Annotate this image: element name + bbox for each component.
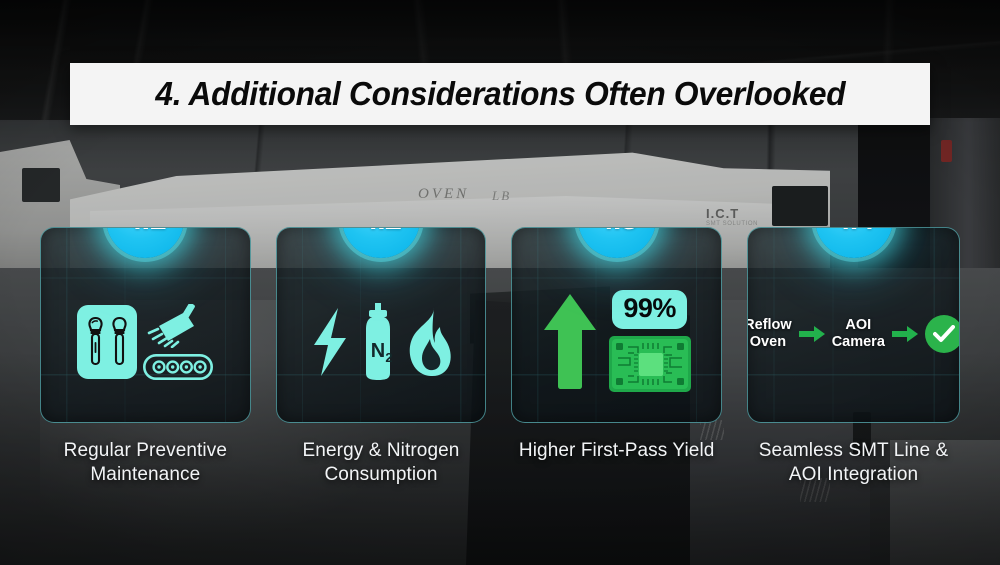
slide-root: OVEN LB I.C.T SMT SOLUTION 4. Additional… — [0, 0, 1000, 565]
cylinder-label: N — [371, 340, 385, 362]
cards-row: 4.1 Regular Preventive Maintenance — [40, 227, 960, 527]
page-title: 4. Additional Considerations Often Overl… — [155, 75, 845, 113]
icon-group-yield: 99% — [542, 290, 692, 393]
cylinder-sublabel: 2 — [385, 350, 392, 365]
card-column-3: 99% — [511, 227, 722, 527]
flame-icon — [404, 305, 454, 379]
card-caption-2: Energy & Nitrogen Consumption — [276, 439, 487, 488]
yield-stats: 99% — [608, 290, 692, 393]
nitrogen-cylinder-icon: N 2 — [356, 301, 400, 383]
card-column-4: Reflow Oven AOI Camera — [747, 227, 960, 527]
arrow-right-icon — [799, 325, 825, 343]
flow-step-aoi-camera: AOI Camera — [832, 317, 885, 350]
flow-label-line1: Reflow — [747, 317, 792, 334]
badge-number: 4.4 — [833, 227, 873, 237]
checkmark-icon — [933, 325, 955, 343]
card-column-2: N 2 4.2 Energy & Nitrogen Consumption — [276, 227, 487, 527]
card-caption-4: Seamless SMT Line & AOI Integration — [747, 439, 960, 488]
flow-label-line2: Oven — [747, 334, 792, 351]
card-4-4[interactable]: Reflow Oven AOI Camera — [747, 227, 960, 423]
screwdriver-icon — [87, 316, 104, 368]
flow-label-line2: Camera — [832, 334, 885, 351]
lightning-bolt-icon — [308, 305, 352, 379]
card-caption-3: Higher First-Pass Yield — [511, 439, 722, 463]
badge-number: 4.3 — [597, 227, 637, 237]
up-arrow-icon — [542, 292, 598, 390]
card-4-3[interactable]: 99% — [511, 227, 722, 423]
badge-number: 4.2 — [361, 227, 401, 237]
card-caption-1: Regular Preventive Maintenance — [40, 439, 251, 488]
badge-number: 4.1 — [125, 227, 165, 237]
cleaning-brush-icon — [145, 304, 211, 348]
conveyor-roller-icon — [143, 354, 213, 380]
check-circle-icon — [925, 315, 960, 353]
smt-flow-diagram: Reflow Oven AOI Camera — [747, 315, 960, 353]
icon-group-energy: N 2 — [308, 301, 454, 383]
card-4-2[interactable]: N 2 4.2 — [276, 227, 487, 423]
arrow-right-icon-2 — [892, 325, 918, 343]
card-4-1[interactable]: 4.1 — [40, 227, 251, 423]
icon-group-maintenance — [77, 304, 213, 380]
pcb-chip-icon — [608, 335, 692, 393]
card-column-1: 4.1 Regular Preventive Maintenance — [40, 227, 251, 527]
brush-conveyor-group — [143, 304, 213, 380]
screwdriver-tools-icon — [77, 305, 137, 379]
screwdriver-icon-2 — [111, 316, 128, 368]
percentage-badge: 99% — [612, 290, 687, 329]
flow-step-reflow-oven: Reflow Oven — [747, 317, 792, 350]
flow-label-line1: AOI — [832, 317, 885, 334]
title-banner: 4. Additional Considerations Often Overl… — [70, 63, 930, 125]
